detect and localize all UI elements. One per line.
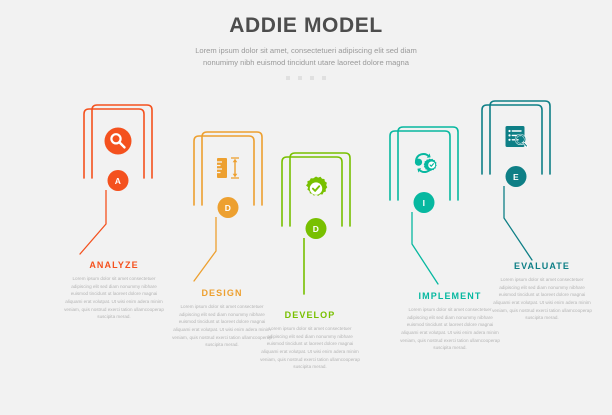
step-evaluate[interactable]: E bbox=[456, 96, 576, 182]
ruler-measure-icon bbox=[213, 153, 243, 183]
separator-dot bbox=[286, 76, 290, 80]
step-badge-implement: I bbox=[414, 192, 435, 213]
text-block-analyze: ANALYZE Lorem ipsum dolor sit amet conse… bbox=[54, 261, 174, 321]
step-badge-design: D bbox=[218, 197, 239, 218]
step-badge-analyze: A bbox=[108, 170, 129, 191]
text-block-develop: DEVELOP Lorem ipsum dolor sit amet conse… bbox=[250, 311, 370, 371]
page-title: ADDIE MODEL bbox=[0, 14, 612, 38]
step-badge-develop: D bbox=[306, 218, 327, 239]
infographic-canvas: ADDIE MODEL Lorem ipsum dolor sit amet, … bbox=[0, 0, 612, 415]
separator-dot bbox=[310, 76, 314, 80]
card-graphic-evaluate: E bbox=[468, 96, 564, 182]
step-body-evaluate: Lorem ipsum dolor sit amet consectetuer … bbox=[490, 276, 594, 322]
checklist-search-icon bbox=[501, 122, 531, 152]
step-analyze[interactable]: A bbox=[58, 100, 178, 186]
step-develop[interactable]: D bbox=[256, 148, 376, 234]
separator-dot bbox=[298, 76, 302, 80]
text-block-evaluate: EVALUATE Lorem ipsum dolor sit amet cons… bbox=[482, 262, 602, 322]
separator-dot bbox=[322, 76, 326, 80]
connector-line-evaluate bbox=[456, 186, 576, 266]
step-label-develop: DEVELOP bbox=[250, 311, 370, 321]
step-label-evaluate: EVALUATE bbox=[482, 262, 602, 272]
step-label-analyze: ANALYZE bbox=[54, 261, 174, 271]
step-badge-evaluate: E bbox=[506, 166, 527, 187]
card-graphic-develop: D bbox=[268, 148, 364, 234]
step-body-develop: Lorem ipsum dolor sit amet consectetuer … bbox=[258, 325, 362, 371]
header: ADDIE MODEL Lorem ipsum dolor sit amet, … bbox=[0, 14, 612, 80]
step-body-analyze: Lorem ipsum dolor sit amet consectetuer … bbox=[62, 275, 166, 321]
card-graphic-analyze: A bbox=[70, 100, 166, 186]
page-subtitle: Lorem ipsum dolor sit amet, consectetuer… bbox=[179, 45, 434, 70]
magnifier-icon bbox=[103, 126, 133, 156]
dot-separator bbox=[286, 76, 326, 80]
connector-line-analyze bbox=[58, 190, 178, 262]
cycle-gear-icon bbox=[409, 148, 439, 178]
connector-line-develop bbox=[256, 238, 376, 298]
gear-check-icon bbox=[301, 174, 331, 204]
